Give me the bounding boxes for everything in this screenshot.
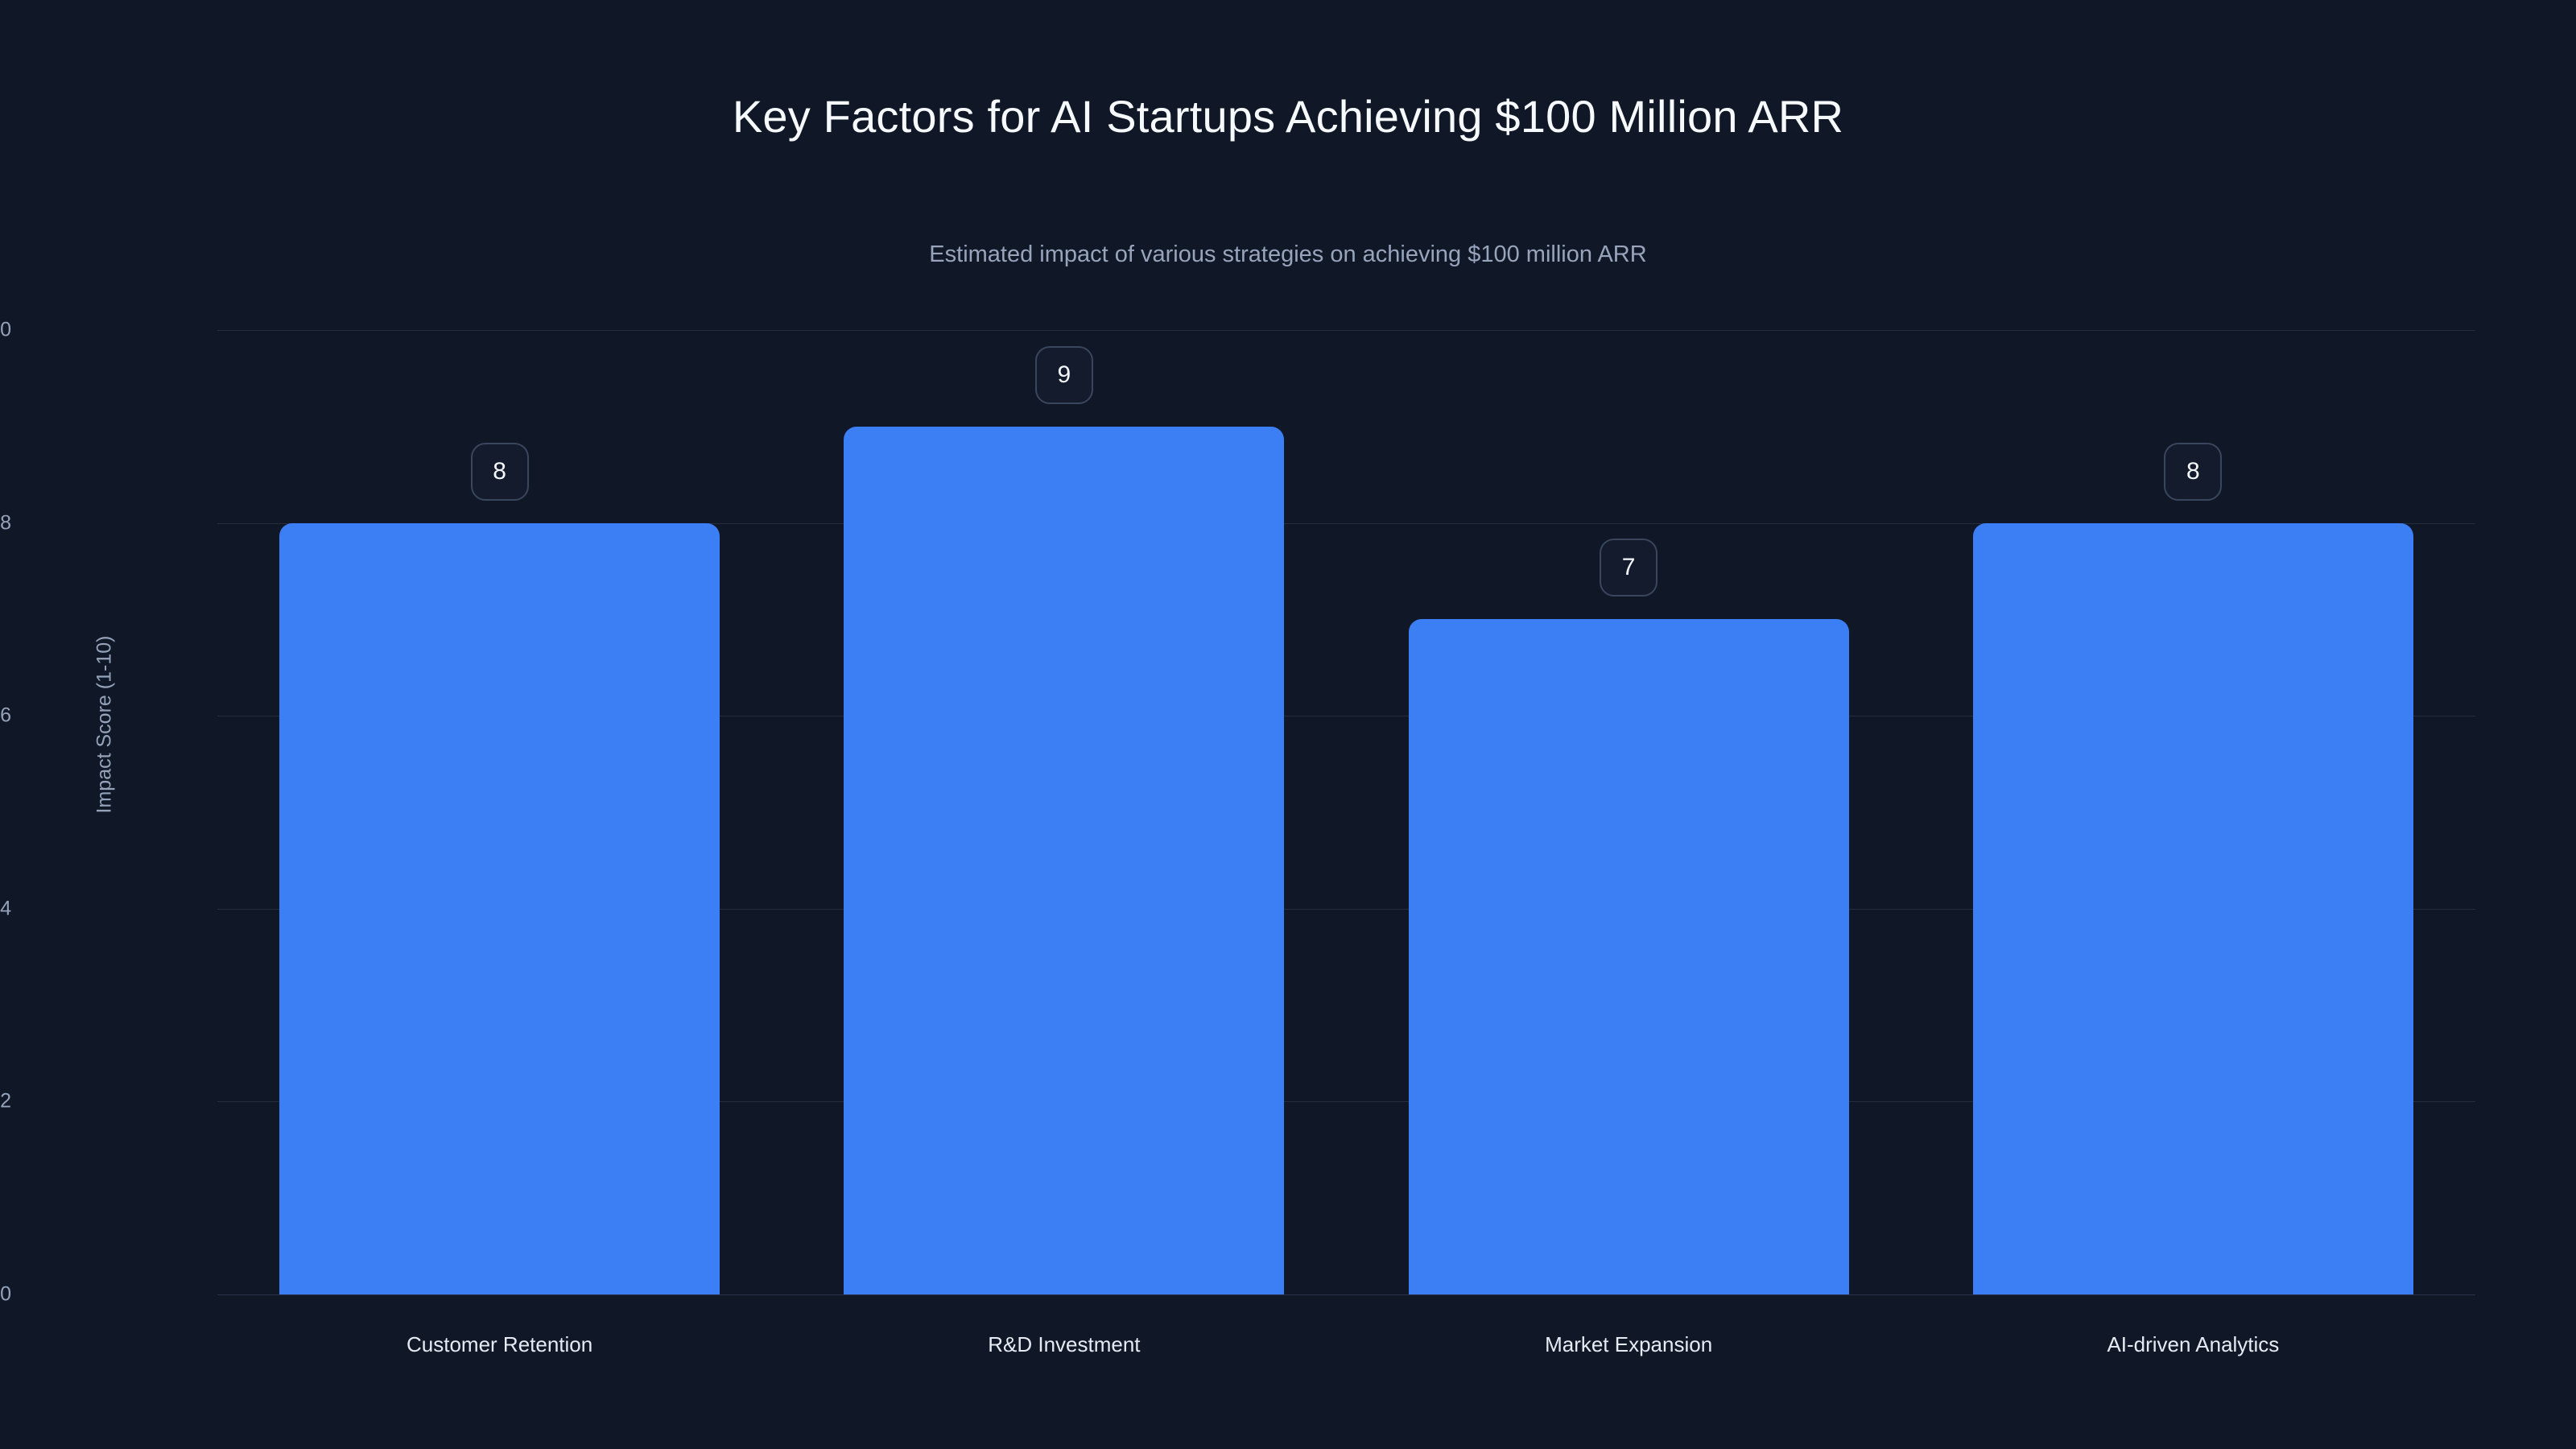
- x-axis-tick-label: R&D Investment: [988, 1332, 1140, 1357]
- y-axis-tick-label: 10: [0, 319, 11, 342]
- bar[interactable]: [1409, 619, 1849, 1294]
- bar[interactable]: [1973, 523, 2413, 1294]
- y-axis-tick-label: 6: [0, 704, 11, 728]
- x-axis-tick-label: Market Expansion: [1545, 1332, 1712, 1357]
- bar-value-label: 9: [1035, 346, 1093, 404]
- plot-area: 8978: [217, 330, 2475, 1294]
- bar-value-label: 7: [1600, 539, 1657, 597]
- x-axis-tick-label: Customer Retention: [407, 1332, 592, 1357]
- y-axis-tick-label: 8: [0, 511, 11, 535]
- y-axis-title: Impact Score (1-10): [93, 636, 117, 814]
- bar[interactable]: [279, 523, 720, 1294]
- chart-subtitle: Estimated impact of various strategies o…: [0, 242, 2576, 268]
- y-axis-tick-label: 4: [0, 897, 11, 920]
- bar-slot: [1409, 330, 1849, 1294]
- chart-canvas: Key Factors for AI Startups Achieving $1…: [0, 0, 2576, 1449]
- x-axis-tick-label: AI-driven Analytics: [2107, 1332, 2279, 1357]
- bar[interactable]: [844, 427, 1284, 1294]
- bar-value-label: 8: [471, 443, 529, 501]
- bar-value-label: 8: [2164, 443, 2222, 501]
- y-axis-tick-label: 0: [0, 1283, 11, 1307]
- y-axis-tick-label: 2: [0, 1090, 11, 1113]
- chart-title: Key Factors for AI Startups Achieving $1…: [0, 90, 2576, 142]
- bar-slot: [844, 330, 1284, 1294]
- gridline: [217, 1294, 2475, 1295]
